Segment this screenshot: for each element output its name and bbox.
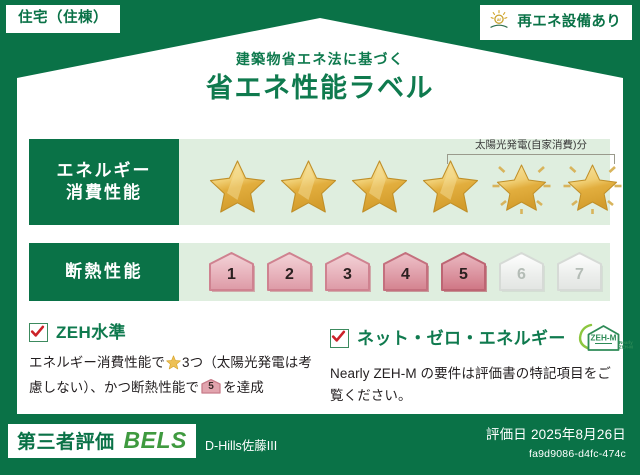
insulation-level-house: 3 bbox=[322, 250, 376, 294]
insulation-level-number: 4 bbox=[380, 267, 431, 283]
zeh-standard-description: エネルギー消費性能で3つ（太陽光発電は考慮しない）、かつ断熱性能で5を達成 bbox=[29, 352, 319, 399]
building-type-tag: 住宅（住棟） bbox=[6, 5, 120, 33]
insulation-performance-row: 断熱性能 1 bbox=[29, 243, 610, 301]
energy-performance-label: エネルギー 消費性能 bbox=[29, 139, 179, 225]
star-icon bbox=[203, 155, 272, 215]
star-icon bbox=[416, 155, 485, 215]
zeh-standard-header: ZEH水準 bbox=[29, 323, 319, 342]
zeh-desc-part1: エネルギー消費性能で bbox=[29, 355, 165, 370]
label-title-block: 建築物省エネ法に基づく 省エネ性能ラベル bbox=[0, 52, 640, 102]
zeh-desc-part3: を達成 bbox=[223, 380, 264, 395]
evaluation-date: 評価日 2025年8月26日 bbox=[486, 428, 626, 442]
insulation-label-line1: 断熱性能 bbox=[65, 261, 143, 283]
zeh-m-logo-icon: ZEH-M Nearly ZEH-M bbox=[576, 323, 638, 353]
star-icon bbox=[166, 355, 181, 377]
solar-annotation-label: 太陽光発電(自家消費)分 bbox=[447, 140, 615, 151]
insulation-level-number: 3 bbox=[322, 267, 373, 283]
evaluation-id: fa9d9086-d4fc-474c bbox=[486, 449, 626, 460]
energy-label-line1: エネルギー bbox=[57, 160, 152, 182]
energy-label-card: 住宅（住棟） ar 再エネ設備あり 建築物省エネ法に基づく 省エネ性能ラベル bbox=[0, 0, 640, 475]
net-zero-header: ネット・ゼロ・エネルギー ZEH-M Nearly ZEH-M bbox=[330, 323, 618, 353]
criteria-zeh-standard: ZEH水準 エネルギー消費性能で3つ（太陽光発電は考慮しない）、かつ断熱性能で5… bbox=[29, 323, 319, 399]
insulation-level-number: 1 bbox=[206, 267, 257, 283]
insulation-level-scale: 1 2 3 bbox=[179, 250, 608, 294]
net-zero-description: Nearly ZEH-M の要件は評価書の特記項目をご覧ください。 bbox=[330, 363, 618, 407]
insulation-level-number: 2 bbox=[264, 267, 315, 283]
star-icon-solar bbox=[558, 155, 627, 215]
insulation-level-house-achieved: 5 bbox=[438, 250, 492, 294]
checkbox-checked-icon[interactable] bbox=[330, 329, 349, 348]
insulation-rating-area: 1 2 3 bbox=[179, 243, 610, 301]
bels-en-label: BELS bbox=[124, 429, 187, 452]
energy-label-line2: 消費性能 bbox=[66, 182, 142, 204]
zeh-standard-title: ZEH水準 bbox=[56, 324, 126, 341]
bels-jp-label: 第三者評価 bbox=[17, 433, 115, 452]
svg-text:ar: ar bbox=[497, 17, 502, 22]
insulation-performance-label: 断熱性能 bbox=[29, 243, 179, 301]
insulation-level-number: 6 bbox=[496, 267, 547, 283]
label-footer: 第三者評価 BELS D-Hills佐藤III 評価日 2025年8月26日 f… bbox=[0, 414, 640, 475]
solar-sun-icon: ar bbox=[488, 9, 510, 36]
insulation-level-number: 7 bbox=[554, 267, 605, 283]
house-level-icon: 5 bbox=[200, 378, 222, 395]
net-zero-title: ネット・ゼロ・エネルギー bbox=[357, 330, 566, 347]
bels-certification-badge: 第三者評価 BELS bbox=[8, 424, 196, 458]
title-main: 省エネ性能ラベル bbox=[0, 75, 640, 102]
renewable-badge-label: 再エネ設備あり bbox=[517, 15, 621, 30]
insulation-level-house: 2 bbox=[264, 250, 318, 294]
insulation-level-house: 1 bbox=[206, 250, 260, 294]
energy-star-rating bbox=[179, 155, 627, 215]
building-name: D-Hills佐藤III bbox=[205, 440, 277, 453]
star-icon-solar bbox=[487, 155, 556, 215]
star-icon bbox=[274, 155, 343, 215]
insulation-level-house: 6 bbox=[496, 250, 550, 294]
renewable-energy-badge: ar 再エネ設備あり bbox=[480, 5, 632, 40]
insulation-level-number: 5 bbox=[438, 267, 489, 283]
zeh-m-logo-text: ZEH-M bbox=[590, 334, 616, 343]
house-level-icon-label: 5 bbox=[200, 382, 222, 392]
star-icon bbox=[345, 155, 414, 215]
checkbox-checked-icon[interactable] bbox=[29, 323, 48, 342]
criteria-net-zero-energy: ネット・ゼロ・エネルギー ZEH-M Nearly ZEH-M Nearly Z… bbox=[330, 323, 618, 407]
insulation-level-house: 7 bbox=[554, 250, 608, 294]
title-subtitle: 建築物省エネ法に基づく bbox=[0, 52, 640, 66]
energy-rating-area: 太陽光発電(自家消費)分 bbox=[179, 139, 627, 225]
evaluation-info: 評価日 2025年8月26日 fa9d9086-d4fc-474c bbox=[486, 428, 626, 459]
energy-performance-row: エネルギー 消費性能 太陽光発電(自家消費)分 bbox=[29, 139, 610, 225]
insulation-level-house: 4 bbox=[380, 250, 434, 294]
svg-text:ZEH-M: ZEH-M bbox=[619, 345, 633, 350]
